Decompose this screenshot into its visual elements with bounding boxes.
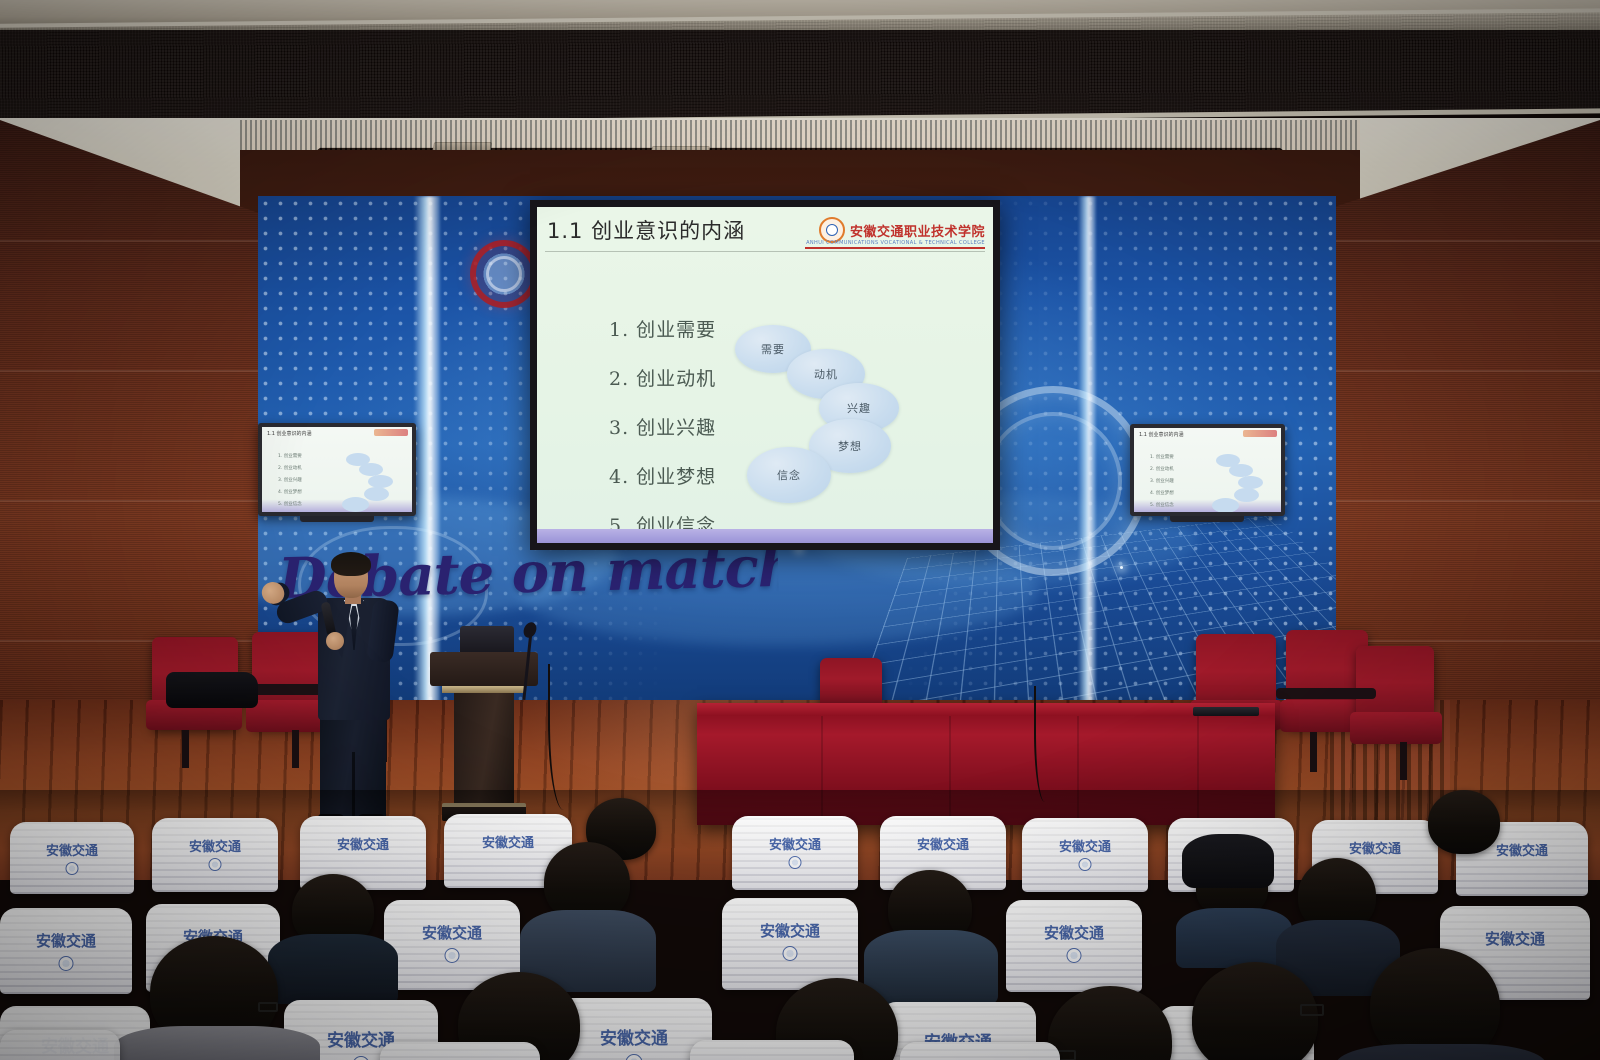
slide-ellipse: 信念 [747,447,831,503]
monitor-list-item: 5. 创业信念 [278,501,302,507]
monitor-list-item: 4. 创业梦想 [1150,490,1174,496]
stage-cable [1034,686,1052,802]
seat-cover-text: 安徽交通 [1496,840,1548,859]
podium-top [430,652,538,686]
seat-cover-logo-icon [789,856,802,869]
monitor-list-item: 4. 创业梦想 [278,489,302,495]
bag-on-chair [166,672,258,708]
audience-body [1176,908,1292,968]
stage-chair-right-leg [1400,742,1407,780]
audience-head [1428,790,1500,854]
audience-seat [0,1030,120,1060]
list-item: 3. 创业兴趣 [609,413,716,440]
stage-chair-left-leg [182,730,189,768]
left-monitor-screen: 1.1 创业意识的内涵 1. 创业需要 2. 创业动机 3. 创业兴趣 4. 创… [262,427,412,512]
audience-head [1048,986,1172,1060]
stage-chair-right-leg [1310,732,1317,772]
list-item: 2. 创业动机 [609,364,716,391]
monitor-list-item: 1. 创业需要 [1150,454,1174,460]
backdrop-light-seam-right [1078,196,1096,716]
audience-seat [900,1042,1060,1060]
seat-cover-text: 安徽交通 [1485,928,1545,949]
seat-cover-text: 安徽交通 [46,840,98,859]
audience-seat [690,1040,854,1060]
auditorium-scene: Debate on match 1.1 创业意识的内涵 安徽交通职业技术学院 A… [0,0,1600,1060]
monitor-org-logo [1243,430,1277,437]
monitor-list-item: 1. 创业需要 [278,453,302,459]
monitor-list-item: 5. 创业信念 [1150,502,1174,508]
seat-cover-logo-icon [209,858,222,871]
slide-bullet-list: 1. 创业需要 2. 创业动机 3. 创业兴趣 4. 创业梦想 5. 创业信念 [609,315,716,543]
slide-title: 1.1 创业意识的内涵 [547,215,745,245]
audience-body [268,934,398,1004]
list-item: 4. 创业梦想 [609,462,716,489]
seat-cover-logo-icon [445,948,460,963]
seat-cover-logo-icon [66,862,79,875]
seat-cover-text: 安徽交通 [600,1024,668,1049]
audience-seat: 安徽交通 [0,908,132,994]
audience-seat: 安徽交通 [722,898,858,990]
speaker-hand-right [326,632,344,650]
podium-gold-band [442,686,526,693]
right-side-monitor: 1.1 创业意识的内涵 1. 创业需要 2. 创业动机 3. 创业兴趣 4. 创… [1130,424,1285,516]
seat-cover-logo-icon [353,1056,370,1060]
audience-seat: 安徽交通 [1006,900,1142,992]
audience-area: 安徽交通 安徽交通 安徽交通 安徽交通 安徽交通 安徽交通 安徽交通 安徽交通 [0,812,1600,1060]
audience-seat: 安徽交通 [10,822,134,894]
audience-body [864,930,998,1004]
audience-seat [380,1042,540,1060]
eyeglasses-icon [1300,1004,1324,1016]
seat-cover-text: 安徽交通 [482,832,534,851]
right-monitor-screen: 1.1 创业意识的内涵 1. 创业需要 2. 创业动机 3. 创业兴趣 4. 创… [1134,428,1281,512]
seat-cover-logo-icon [626,1054,643,1060]
monitor-list-item: 3. 创业兴趣 [1150,478,1174,484]
stage-chair-left-leg [292,730,299,768]
slide-title-rule [545,251,985,252]
table-item-notebook [1193,707,1259,716]
audience-body [1336,1044,1546,1060]
stage-chair-right-3-seat [1350,712,1442,744]
org-logo-subtext: ANHUI COMMUNICATIONS VOCATIONAL & TECHNI… [806,240,985,246]
monitor-org-logo [374,429,408,436]
monitor-list-item: 2. 创业动机 [278,465,302,471]
bag-on-seat [1182,834,1274,888]
org-logo-text: 安徽交通职业技术学院 [850,221,985,240]
seat-cover-text: 安徽交通 [36,930,96,951]
slide-bottom-bar [537,529,993,543]
audience-body [114,1026,320,1060]
monitor-slide-title: 1.1 创业意识的内涵 [1139,431,1184,438]
seat-cover-text: 安徽交通 [917,834,969,853]
audience-seat: 安徽交通 [152,818,278,892]
projection-screen: 1.1 创业意识的内涵 安徽交通职业技术学院 ANHUI COMMUNICATI… [530,200,1000,550]
org-logo-underline [805,247,985,249]
ceiling-acoustic-panel [0,8,1600,129]
seat-cover-text: 安徽交通 [422,922,482,943]
stage-chair-right-armrest [1276,688,1376,699]
presentation-slide: 1.1 创业意识的内涵 安徽交通职业技术学院 ANHUI COMMUNICATI… [537,207,993,543]
left-monitor-stand [300,516,374,522]
seat-cover-logo-icon [1079,858,1092,871]
seat-cover-text: 安徽交通 [760,920,820,941]
monitor-list-item: 3. 创业兴趣 [278,477,302,483]
judges-table-edge [697,703,1275,716]
audience-seat: 安徽交通 [732,816,858,890]
eyeglasses-icon [258,1002,278,1012]
speaker-hair [331,552,371,576]
school-crest-inner-wheel [486,256,522,292]
seat-cover-text: 安徽交通 [337,834,389,853]
podium-column [454,693,514,803]
left-side-monitor: 1.1 创业意识的内涵 1. 创业需要 2. 创业动机 3. 创业兴趣 4. 创… [258,423,416,516]
right-monitor-stand [1170,516,1244,522]
monitor-list-item: 2. 创业动机 [1150,466,1174,472]
backdrop-watermark-emblem-inner [984,412,1122,550]
list-item: 1. 创业需要 [609,315,716,342]
seat-cover-logo-icon [59,956,74,971]
seat-cover-text: 安徽交通 [769,834,821,853]
seat-cover-text: 安徽交通 [189,836,241,855]
seat-cover-text: 安徽交通 [1059,836,1111,855]
seat-cover-logo-icon [1067,948,1082,963]
seat-cover-text: 安徽交通 [1349,838,1401,857]
monitor-slide-title: 1.1 创业意识的内涵 [267,430,312,437]
seat-cover-text: 安徽交通 [1044,922,1104,943]
seat-cover-logo-icon [783,946,798,961]
audience-seat: 安徽交通 [1022,818,1148,892]
